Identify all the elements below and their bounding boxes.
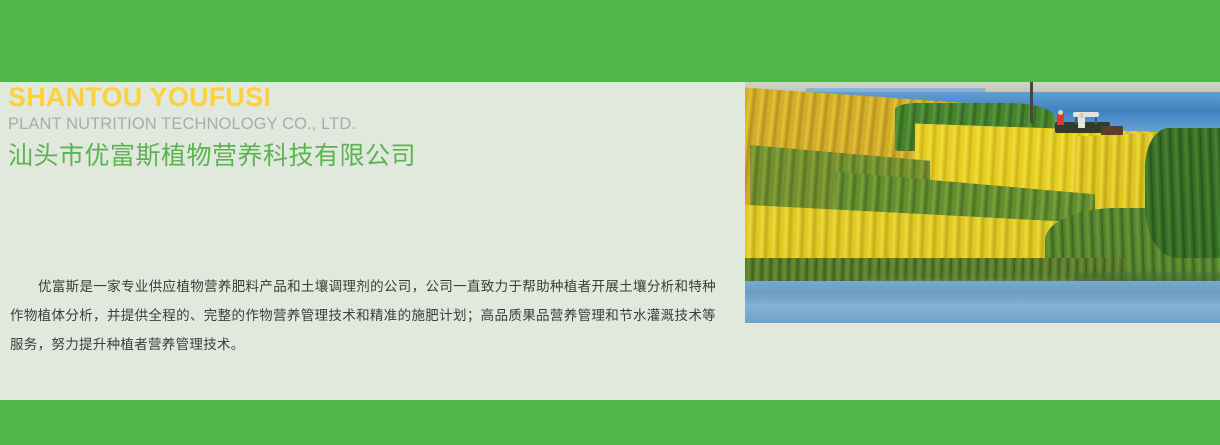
tractor-canopy-post-right (1095, 116, 1097, 124)
photo-person-white-head (1079, 113, 1084, 118)
bottom-green-bar (0, 400, 1220, 445)
company-name-english: SHANTOU YOUFUSI (8, 82, 708, 112)
photo-bushes-right (1145, 128, 1220, 258)
brand-block: SHANTOU YOUFUSI PLANT NUTRITION TECHNOLO… (8, 82, 708, 173)
tractor-canopy (1073, 112, 1099, 117)
photo-foreground-pond (745, 281, 1220, 323)
company-name-chinese: 汕头市优富斯植物营养科技有限公司 (8, 139, 708, 173)
company-intro-paragraph: 优富斯是一家专业供应植物营养肥料产品和土壤调理剂的公司，公司一直致力于帮助种植者… (10, 272, 716, 359)
photo-utility-pole (1030, 75, 1033, 123)
company-tagline-english: PLANT NUTRITION TECHNOLOGY CO., LTD. (8, 114, 708, 135)
page-root: SHANTOU YOUFUSI PLANT NUTRITION TECHNOLO… (0, 0, 1220, 445)
top-green-bar (0, 0, 1220, 82)
tractor-canopy-post-left (1075, 116, 1077, 124)
tractor-trailer (1101, 126, 1123, 135)
photo-tractor (1045, 110, 1123, 138)
photo-person-red-head (1058, 110, 1063, 115)
